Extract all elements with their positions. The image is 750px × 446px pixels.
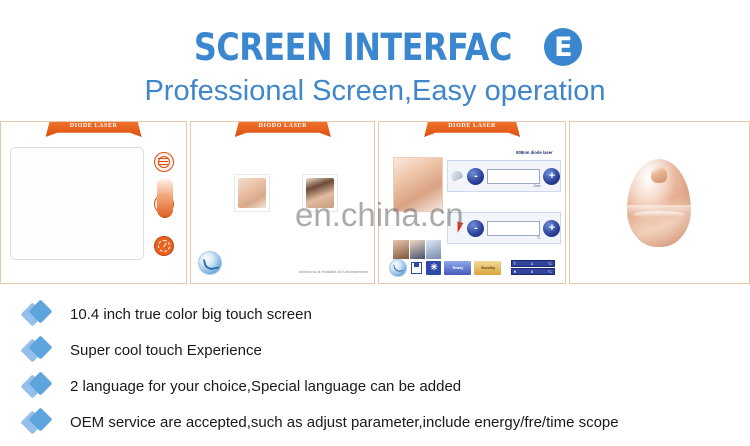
panel-blank-screen: DIODE LASER bbox=[0, 121, 187, 284]
temp-row-1-mid: A bbox=[531, 262, 533, 266]
panel-parameters: DIODE LASER 808nm diode laser - J/cm + - bbox=[378, 121, 565, 284]
face-photo-b bbox=[306, 178, 334, 208]
page-subtitle: Professional Screen,Easy operation bbox=[144, 77, 605, 106]
page-title-text: SCREEN INTERFAC bbox=[194, 29, 512, 66]
face-photo-a bbox=[238, 178, 266, 208]
temperature-value-field[interactable]: °C bbox=[487, 221, 540, 236]
gauge-icon[interactable] bbox=[154, 236, 174, 256]
temperature-readout-stack: T A °C R B °C bbox=[511, 260, 555, 275]
list-item: Super cool touch Experience bbox=[0, 332, 750, 368]
ribbon-diodo-laser: DIODO LASER bbox=[235, 122, 331, 137]
handpiece-overlay-icon bbox=[157, 178, 173, 218]
list-item: 2 language for your choice,Special langu… bbox=[0, 368, 750, 404]
title-badge-e: E bbox=[544, 28, 582, 66]
feature-text: 2 language for your choice,Special langu… bbox=[70, 378, 461, 395]
thumbnail-1[interactable] bbox=[393, 240, 408, 260]
bottom-toolbar: ✳ Ready Standby T A °C R B °C bbox=[389, 259, 554, 276]
panel-mode-select: DIODO LASER seleziona la modalita di fun… bbox=[190, 121, 375, 284]
patient-photo bbox=[393, 157, 443, 212]
ribbon-label: DIODE LASER bbox=[424, 122, 520, 137]
ready-button[interactable]: Ready bbox=[444, 261, 471, 275]
feature-text: 10.4 inch true color big touch screen bbox=[70, 306, 312, 323]
energy-control-row: - J/cm + bbox=[447, 160, 561, 192]
energy-value-field[interactable]: J/cm bbox=[487, 169, 540, 184]
temperature-plus-button[interactable]: + bbox=[543, 220, 560, 237]
temp-row-1-label: T bbox=[514, 262, 516, 266]
temperature-readout-1: T A °C bbox=[511, 260, 555, 267]
globe-button[interactable] bbox=[389, 259, 407, 277]
temp-row-2-label: R bbox=[514, 270, 516, 274]
list-item: 10.4 inch true color big touch screen bbox=[0, 296, 750, 332]
feature-text: OEM service are accepted,such as adjust … bbox=[70, 414, 619, 431]
mode-thumbnail-b[interactable] bbox=[302, 174, 338, 212]
ribbon-label: DIODE LASER bbox=[46, 122, 142, 137]
thumbnail-3[interactable] bbox=[426, 240, 441, 260]
feature-text: Super cool touch Experience bbox=[70, 342, 262, 359]
energy-plus-button[interactable]: + bbox=[543, 168, 560, 185]
temperature-control-row: - °C + bbox=[447, 212, 561, 244]
diamond-bullet-icon bbox=[24, 339, 58, 361]
list-item: OEM service are accepted,such as adjust … bbox=[0, 404, 750, 440]
temperature-unit-label: °C bbox=[537, 236, 541, 240]
standby-button[interactable]: Standby bbox=[474, 261, 501, 275]
diamond-bullet-icon bbox=[24, 303, 58, 325]
panel-handpiece bbox=[569, 121, 750, 284]
laser-type-label: 808nm diode laser bbox=[516, 150, 553, 155]
photo-thumbnail-row[interactable] bbox=[393, 240, 441, 260]
globe-button[interactable] bbox=[198, 251, 222, 275]
page-header: SCREEN INTERFAC E Professional Screen,Ea… bbox=[0, 0, 750, 118]
energy-unit-label: J/cm bbox=[533, 184, 540, 188]
mode-select-caption: seleziona la modalita di funzionamento bbox=[299, 270, 369, 274]
temperature-minus-button[interactable]: - bbox=[467, 220, 484, 237]
save-icon[interactable] bbox=[410, 261, 423, 275]
screen-panel-strip: DIODE LASER DIODO LASER seleziona la mod… bbox=[0, 121, 750, 284]
diamond-bullet-icon bbox=[24, 375, 58, 397]
temp-row-1-unit: °C bbox=[548, 262, 552, 266]
globe-icon[interactable] bbox=[154, 152, 174, 172]
blank-touch-screen[interactable] bbox=[10, 147, 144, 260]
feature-list: 10.4 inch true color big touch screen Su… bbox=[0, 296, 750, 440]
ribbon-label: DIODO LASER bbox=[235, 122, 331, 137]
temp-row-2-mid: B bbox=[531, 270, 533, 274]
ribbon-diode-laser-2: DIODE LASER bbox=[424, 122, 520, 137]
ribbon-diode-laser-1: DIODE LASER bbox=[46, 122, 142, 137]
energy-minus-button[interactable]: - bbox=[467, 168, 484, 185]
diamond-bullet-icon bbox=[24, 411, 58, 433]
mode-thumbnail-a[interactable] bbox=[234, 174, 270, 212]
parameters-screen: 808nm diode laser - J/cm + - °C bbox=[385, 138, 558, 278]
handpiece-band bbox=[627, 205, 691, 215]
temp-row-2-unit: °C bbox=[548, 270, 552, 274]
thumbnail-2[interactable] bbox=[410, 240, 425, 260]
page-title: SCREEN INTERFAC E bbox=[168, 24, 583, 70]
handpiece-icon bbox=[451, 168, 467, 184]
temperature-readout-2: R B °C bbox=[511, 268, 555, 275]
snowflake-icon[interactable]: ✳ bbox=[426, 261, 441, 275]
rose-gold-handpiece-image bbox=[627, 159, 691, 247]
bolt-icon bbox=[451, 220, 467, 236]
